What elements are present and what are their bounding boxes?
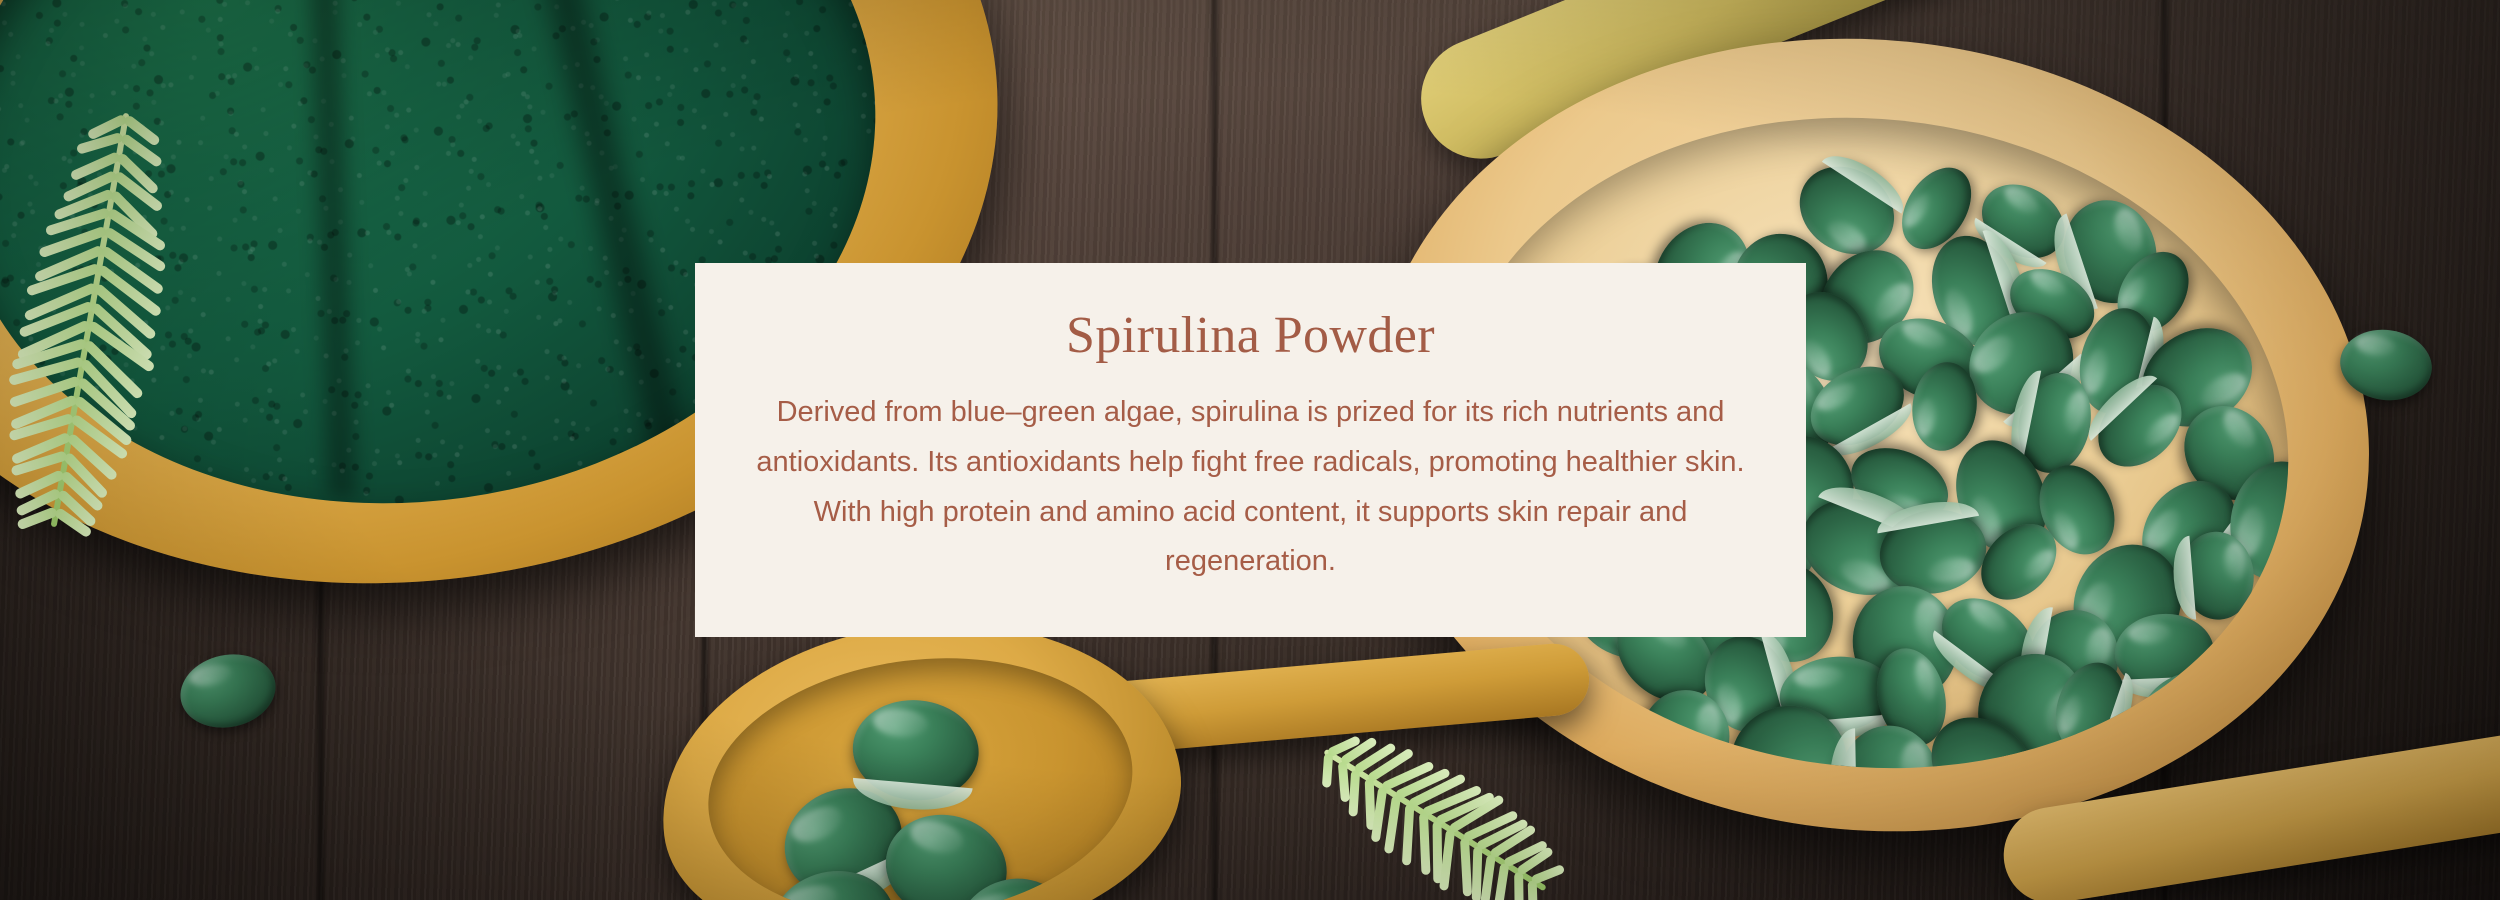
page-title: Spirulina Powder [1066, 307, 1435, 364]
spirulina-hero-banner: Spirulina Powder Derived from blue–green… [0, 0, 2500, 900]
fern-leaflet [1322, 753, 1333, 788]
fern-leaflet [1384, 795, 1401, 854]
fern-leaflet [1514, 872, 1524, 900]
fern-leaflet [1480, 855, 1496, 900]
spirulina-tablet [848, 695, 982, 806]
fern-leaflet [1494, 863, 1510, 900]
fern-leaflet [1402, 804, 1414, 865]
content-card: Spirulina Powder Derived from blue–green… [695, 263, 1806, 637]
spirulina-tablet [1641, 690, 1730, 783]
fern-leaflet [1348, 770, 1360, 816]
description-text: Derived from blue–green algae, spirulina… [741, 388, 1761, 588]
fern-leaflet [1528, 881, 1538, 900]
spoon-bowl [693, 635, 1147, 900]
fern-leaflet [1460, 838, 1472, 897]
fern-leaflet [1419, 813, 1431, 875]
